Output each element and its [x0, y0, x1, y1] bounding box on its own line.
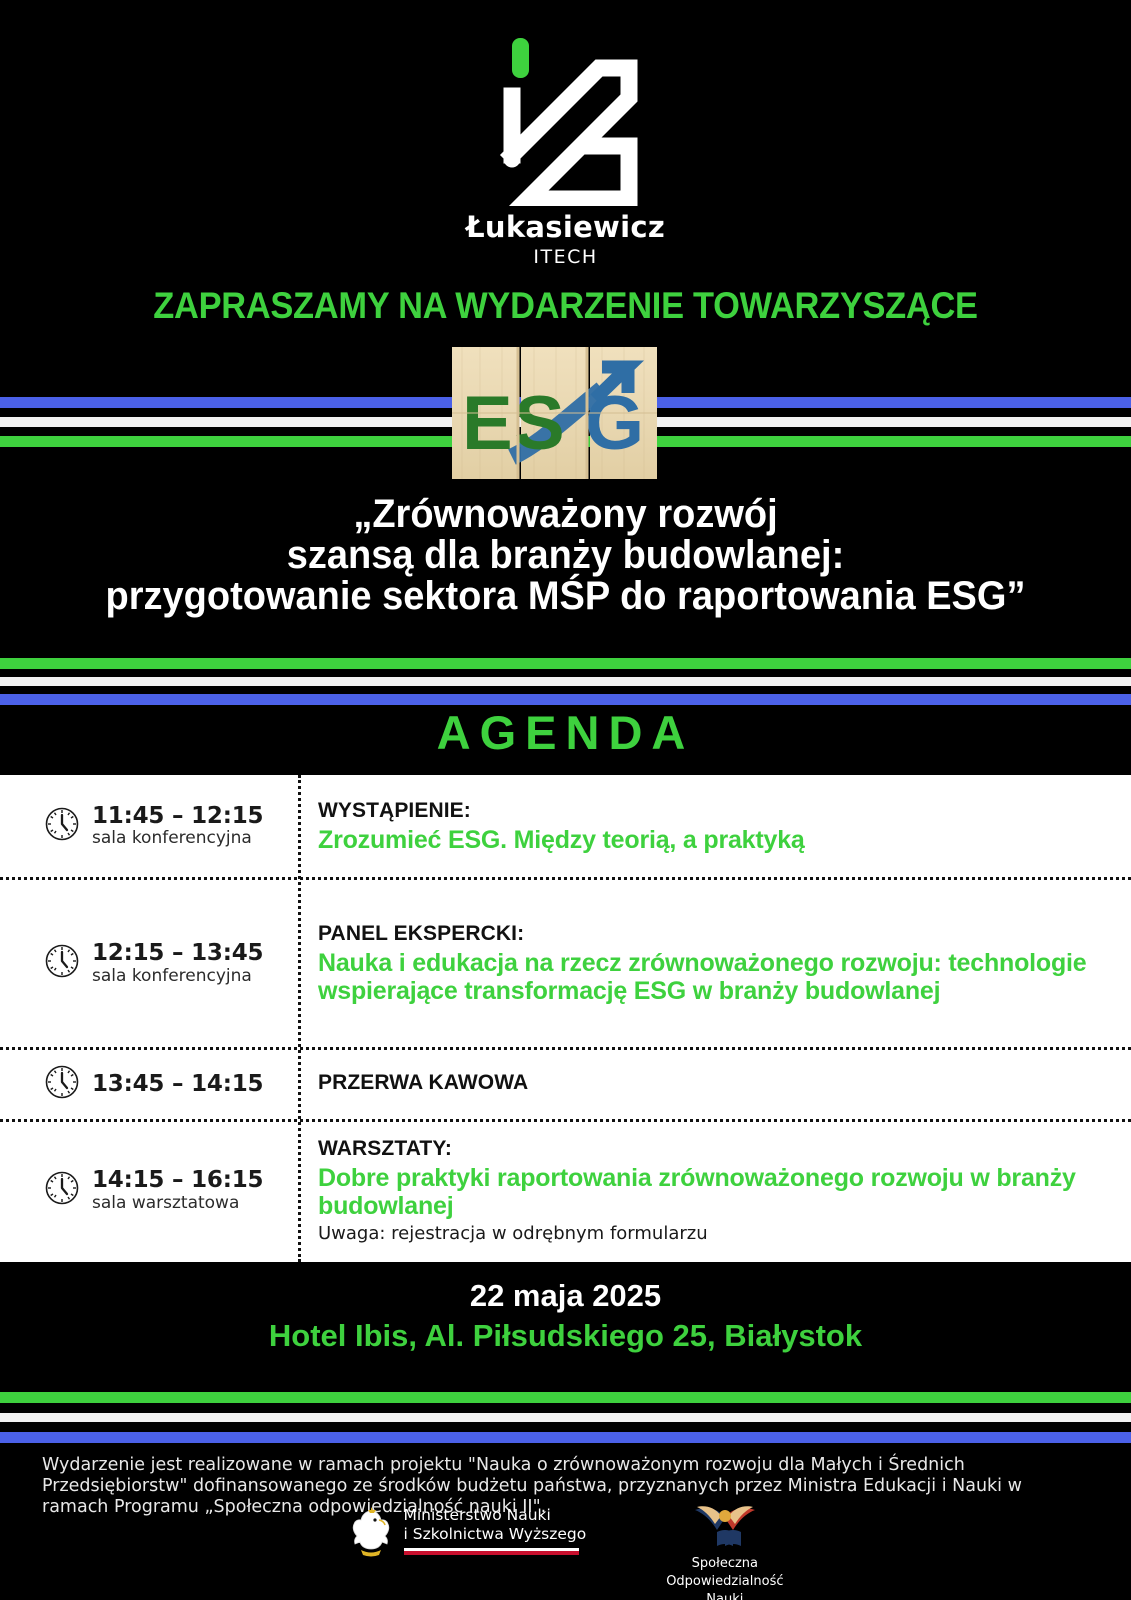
brand-logo: Łukasiewicz ITECH	[0, 34, 1131, 268]
title-line-3: przygotowanie sektora MŚP do raportowani…	[28, 576, 1102, 617]
ministry-line-1: Ministerstwo Nauki	[404, 1506, 551, 1524]
agenda-panel: 11:45 – 12:15 sala konferencyjna WYSTĄPI…	[0, 775, 1131, 1262]
agenda-room: sala konferencyjna	[92, 828, 252, 848]
agenda-row-content-cell: WARSZTATY: Dobre praktyki raportowania z…	[298, 1122, 1131, 1259]
agenda-row-content-cell: PRZERWA KAWOWA	[298, 1050, 546, 1119]
esg-blocks-logo-icon: E S G	[452, 347, 657, 479]
svg-text:G: G	[585, 381, 644, 466]
agenda-row-time-cell: 12:15 – 13:45 sala konferencyjna	[0, 880, 298, 1047]
svg-text:S: S	[514, 381, 565, 466]
table-row: 14:15 – 16:15 sala warsztatowa WARSZTATY…	[0, 1119, 1131, 1259]
stripe-blue	[0, 694, 1131, 705]
ministry-flag-bar	[404, 1548, 579, 1555]
agenda-time-block: 11:45 – 12:15 sala konferencyjna	[92, 804, 263, 849]
agenda-time: 14:15 – 16:15	[92, 1167, 263, 1193]
lukasiewicz-mark-icon	[486, 34, 646, 206]
son-emblem-icon	[679, 1506, 771, 1553]
clock-icon	[44, 1064, 80, 1105]
table-row: 11:45 – 12:15 sala konferencyjna WYSTĄPI…	[0, 775, 1131, 877]
clock-icon	[44, 806, 80, 847]
agenda-note: Uwaga: rejestracja w odrębnym formularzu	[318, 1223, 1113, 1244]
agenda-headline: Dobre praktyki raportowania zrównoważone…	[318, 1164, 1113, 1220]
agenda-heading: AGENDA	[0, 705, 1131, 760]
ministry-text-block: Ministerstwo Nauki i Szkolnictwa Wyższeg…	[404, 1506, 587, 1555]
logo-name: Łukasiewicz	[466, 210, 665, 244]
son-line-3: Nauki	[706, 1592, 743, 1600]
title-line-1: „Zrównoważony rozwój	[28, 494, 1102, 535]
event-details: 22 maja 2025 Hotel Ibis, Al. Piłsudskieg…	[0, 1278, 1131, 1354]
agenda-kicker: PANEL EKSPERCKI:	[318, 922, 1113, 946]
agenda-time: 12:15 – 13:45	[92, 940, 263, 966]
agenda-time-block: 14:15 – 16:15 sala warsztatowa	[92, 1168, 263, 1213]
svg-text:E: E	[462, 381, 513, 466]
agenda-row-time-cell: 13:45 – 14:15	[0, 1050, 298, 1119]
son-line-1: Społeczna	[692, 1556, 758, 1571]
event-date: 22 maja 2025	[0, 1278, 1131, 1314]
agenda-row-content-cell: PANEL EKSPERCKI: Nauka i edukacja na rze…	[298, 880, 1131, 1047]
footer-logos: Ministerstwo Nauki i Szkolnictwa Wyższeg…	[0, 1506, 1131, 1600]
agenda-room: sala konferencyjna	[92, 966, 252, 986]
clock-icon	[44, 943, 80, 984]
agenda-kicker: WARSZTATY:	[318, 1137, 1113, 1161]
social-responsibility-logo: Społeczna Odpowiedzialność Nauki	[666, 1506, 783, 1600]
agenda-row-content-cell: WYSTĄPIENIE: Zrozumieć ESG. Między teori…	[298, 775, 823, 877]
stripe-green	[0, 1392, 1131, 1403]
page-title: „Zrównoważony rozwój szansą dla branży b…	[28, 494, 1102, 617]
stripe-band-bottom	[0, 1392, 1131, 1447]
son-line-2: Odpowiedzialność	[666, 1574, 783, 1589]
stripe-white	[0, 677, 1131, 686]
agenda-headline: Zrozumieć ESG. Między teorią, a praktyką	[318, 826, 805, 854]
agenda-kicker: PRZERWA KAWOWA	[318, 1071, 528, 1095]
agenda-time: 13:45 – 14:15	[92, 1071, 263, 1097]
polish-eagle-icon	[348, 1506, 394, 1565]
ministry-logo: Ministerstwo Nauki i Szkolnictwa Wyższeg…	[348, 1506, 587, 1565]
agenda-time-block: 12:15 – 13:45 sala konferencyjna	[92, 941, 263, 986]
agenda-time: 11:45 – 12:15	[92, 803, 263, 829]
table-row: 12:15 – 13:45 sala konferencyjna PANEL E…	[0, 877, 1131, 1047]
event-venue: Hotel Ibis, Al. Piłsudskiego 25, Białyst…	[0, 1318, 1131, 1354]
agenda-room: sala warsztatowa	[92, 1193, 239, 1213]
agenda-kicker: WYSTĄPIENIE:	[318, 799, 805, 823]
agenda-time-block: 13:45 – 14:15	[92, 1072, 263, 1098]
stripe-blue	[0, 1432, 1131, 1443]
agenda-row-time-cell: 11:45 – 12:15 sala konferencyjna	[0, 775, 298, 877]
table-row: 13:45 – 14:15 PRZERWA KAWOWA	[0, 1047, 1131, 1119]
poster-root: Łukasiewicz ITECH ZAPRASZAMY NA WYDARZEN…	[0, 0, 1131, 1600]
clock-icon	[44, 1170, 80, 1211]
agenda-headline: Nauka i edukacja na rzecz zrównoważonego…	[318, 949, 1113, 1005]
stripe-green	[0, 658, 1131, 669]
stripe-white	[0, 1413, 1131, 1422]
agenda-row-time-cell: 14:15 – 16:15 sala warsztatowa	[0, 1122, 298, 1259]
invitation-headline: ZAPRASZAMY NA WYDARZENIE TOWARZYSZĄCE	[40, 285, 1092, 327]
logo-subtitle: ITECH	[533, 246, 597, 268]
title-line-2: szansą dla branży budowlanej:	[28, 535, 1102, 576]
ministry-line-2: i Szkolnictwa Wyższego	[404, 1525, 587, 1543]
